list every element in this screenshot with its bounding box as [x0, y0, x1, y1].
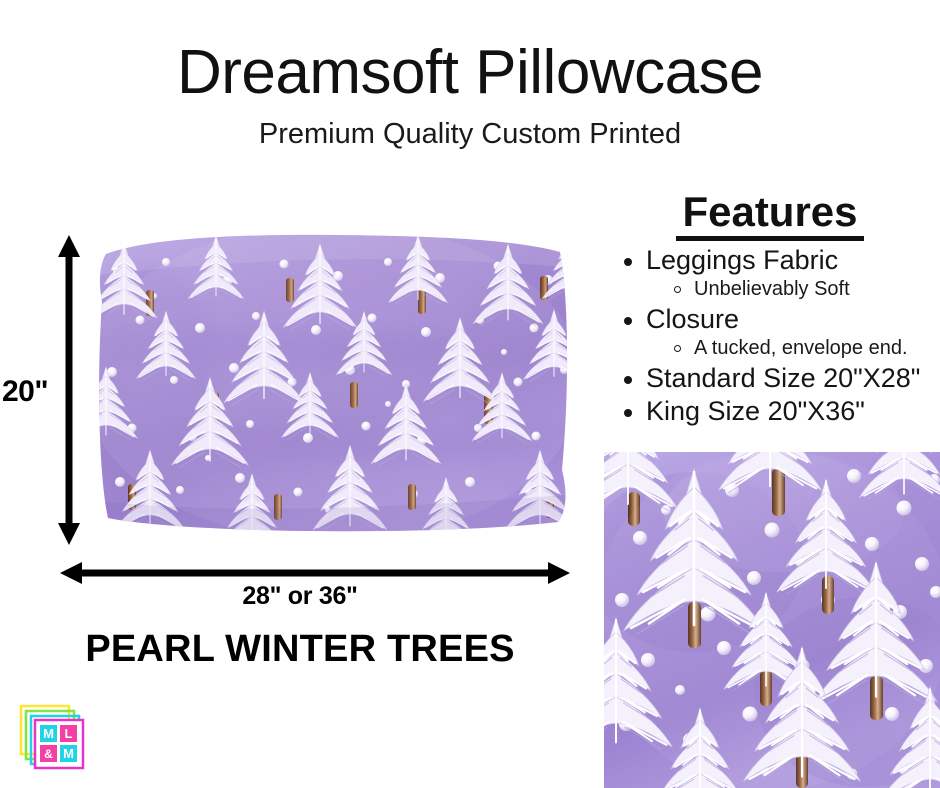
features-heading: Features: [600, 190, 940, 243]
fabric-closeup-image: [604, 452, 940, 788]
features-heading-text: Features: [676, 190, 863, 241]
pillow-figure: 20" 28" or 36": [0, 190, 600, 610]
sub-bullet-icon: [674, 345, 681, 352]
feature-sub-list: A tucked, envelope end.: [646, 336, 940, 361]
feature-label: Standard Size 20"X28": [646, 363, 920, 393]
feature-sub-item: A tucked, envelope end.: [672, 336, 940, 361]
feature-item: Closure A tucked, envelope end.: [618, 304, 940, 361]
bullet-icon: [624, 409, 632, 417]
pattern-name: PEARL WINTER TREES: [0, 628, 600, 671]
brand-logo: M L & M: [16, 702, 88, 774]
page-subtitle: Premium Quality Custom Printed: [0, 104, 940, 149]
feature-item: Leggings Fabric Unbelievably Soft: [618, 245, 940, 302]
height-dimension-label: 20": [2, 375, 48, 409]
feature-item: Standard Size 20"X28": [618, 363, 940, 395]
features-list: Leggings Fabric Unbelievably Soft Closur…: [600, 245, 940, 427]
page-title: Dreamsoft Pillowcase: [0, 0, 940, 104]
svg-text:M: M: [43, 726, 54, 741]
feature-sub-label: Unbelievably Soft: [694, 278, 850, 300]
feature-sub-item: Unbelievably Soft: [672, 277, 940, 302]
header: Dreamsoft Pillowcase Premium Quality Cus…: [0, 0, 940, 149]
svg-text:L: L: [65, 726, 73, 741]
features-panel: Features Leggings Fabric Unbelievably So…: [600, 190, 940, 429]
sub-bullet-icon: [674, 286, 681, 293]
feature-label: Closure: [646, 304, 739, 334]
bullet-icon: [624, 258, 632, 266]
feature-sub-label: A tucked, envelope end.: [694, 337, 908, 359]
svg-text:M: M: [63, 746, 74, 761]
bullet-icon: [624, 317, 632, 325]
feature-label: King Size 20"X36": [646, 396, 865, 426]
width-dimension-label: 28" or 36": [0, 582, 600, 611]
bullet-icon: [624, 376, 632, 384]
feature-label: Leggings Fabric: [646, 245, 838, 275]
pillow-product-image: [88, 232, 578, 534]
feature-sub-list: Unbelievably Soft: [646, 277, 940, 302]
height-dimension-arrow: [52, 235, 86, 545]
feature-item: King Size 20"X36": [618, 396, 940, 428]
svg-text:&: &: [44, 747, 53, 761]
